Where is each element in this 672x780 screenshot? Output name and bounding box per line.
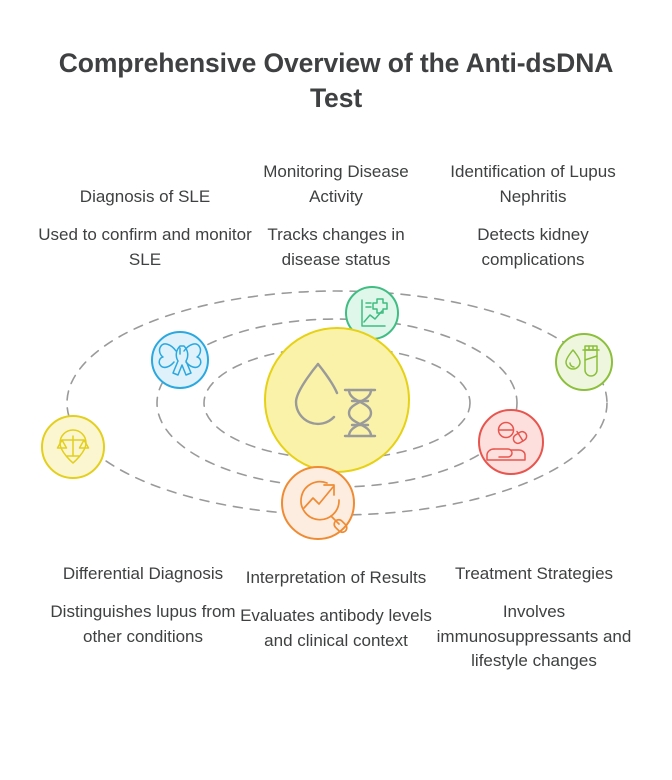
node-circle-diagnosis[interactable] <box>152 332 208 388</box>
label-heading-diagnosis: Diagnosis of SLE <box>26 185 264 209</box>
node-differential[interactable] <box>42 416 104 478</box>
label-heading-treatment: Treatment Strategies <box>424 562 644 586</box>
label-block-nephritis: Identification of Lupus Nephritis Detect… <box>434 140 632 272</box>
page-title: Comprehensive Overview of the Anti-dsDNA… <box>36 46 636 116</box>
label-block-monitoring: Monitoring Disease Activity Tracks chang… <box>236 132 436 272</box>
node-circle-center[interactable] <box>265 328 409 472</box>
node-center-anti-dsdna[interactable] <box>265 328 409 472</box>
node-nephritis[interactable] <box>556 334 612 390</box>
label-description-diagnosis: Used to confirm and monitor SLE <box>26 223 264 272</box>
label-block-interpretation: Interpretation of Results Evaluates anti… <box>236 566 436 746</box>
node-interpretation[interactable] <box>282 467 354 539</box>
label-description-interpretation: Evaluates antibody levels and clinical c… <box>236 604 436 653</box>
node-diagnosis[interactable] <box>152 332 208 388</box>
label-block-diagnosis: Diagnosis of SLE Used to confirm and mon… <box>26 140 264 272</box>
node-circle-treatment[interactable] <box>479 410 543 474</box>
label-block-treatment: Treatment Strategies Involves immunosupp… <box>424 562 644 722</box>
node-treatment[interactable] <box>479 410 543 474</box>
label-description-differential: Distinguishes lupus from other condition… <box>40 600 246 649</box>
infographic-canvas: Comprehensive Overview of the Anti-dsDNA… <box>0 0 672 780</box>
orbit-diagram <box>0 268 672 558</box>
label-description-nephritis: Detects kidney complications <box>434 223 632 272</box>
label-heading-monitoring: Monitoring Disease Activity <box>236 160 436 209</box>
label-heading-interpretation: Interpretation of Results <box>236 566 436 590</box>
label-description-monitoring: Tracks changes in disease status <box>236 223 436 272</box>
label-heading-nephritis: Identification of Lupus Nephritis <box>434 160 632 209</box>
label-heading-differential: Differential Diagnosis <box>40 562 246 586</box>
node-circle-nephritis[interactable] <box>556 334 612 390</box>
label-description-treatment: Involves immunosuppressants and lifestyl… <box>424 600 644 673</box>
label-block-differential: Differential Diagnosis Distinguishes lup… <box>40 562 246 722</box>
